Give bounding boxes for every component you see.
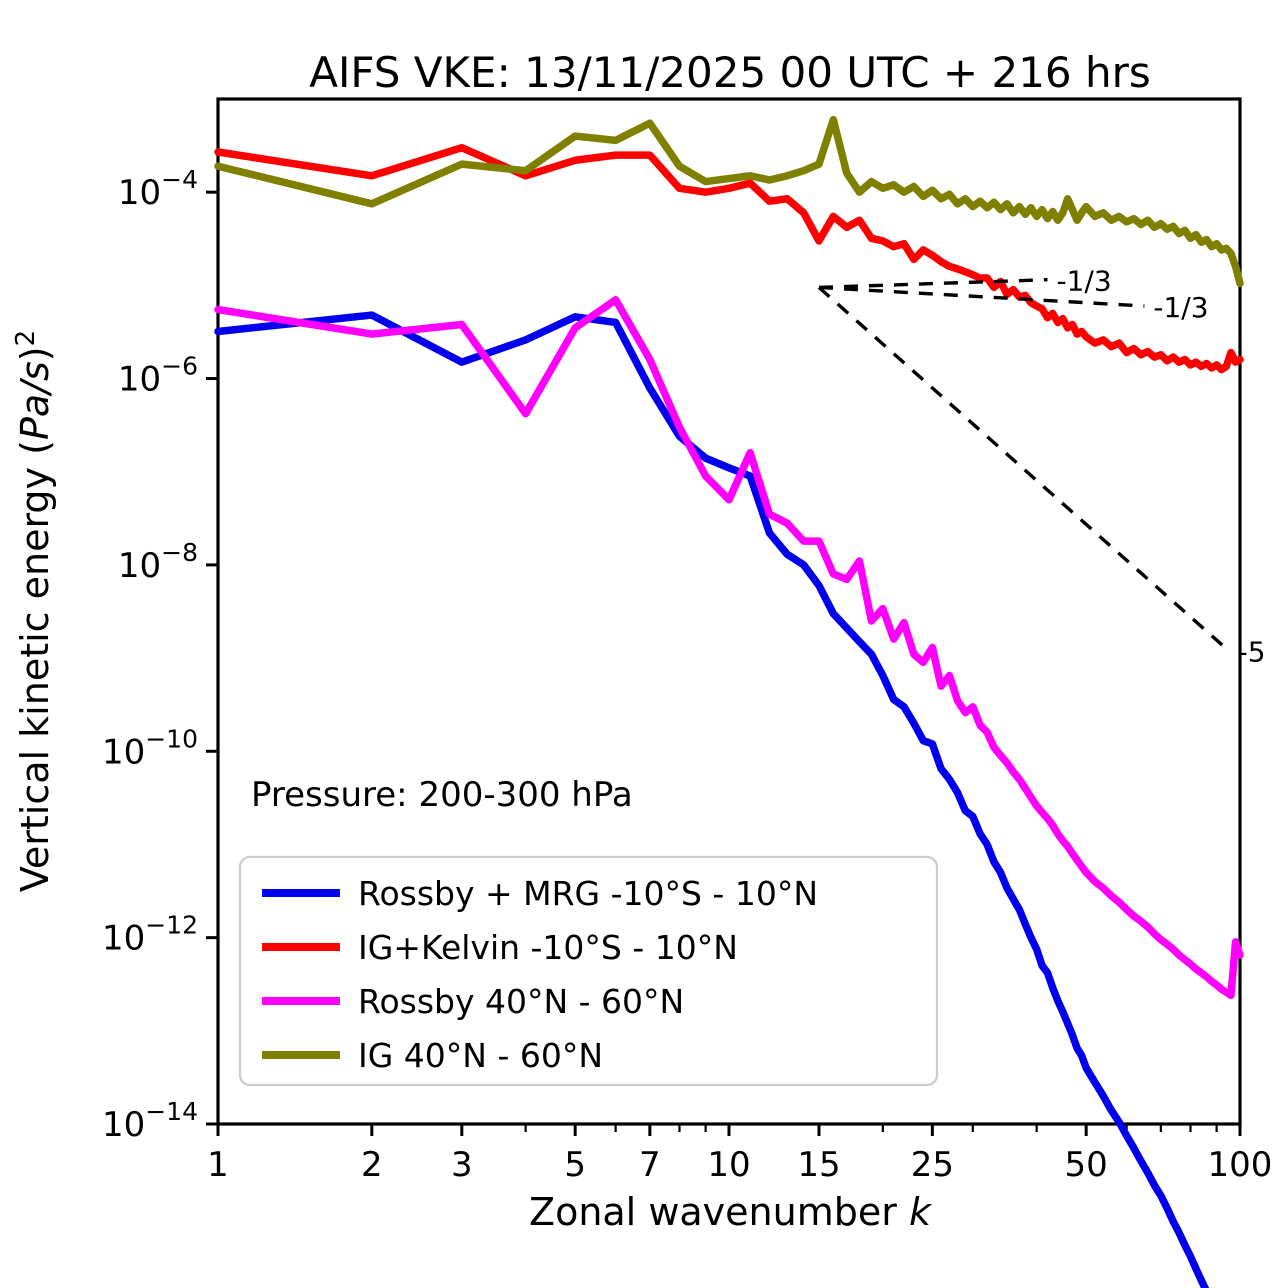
y-tick-label: 10−6 — [118, 352, 198, 400]
chart-title: AIFS VKE: 13/11/2025 00 UTC + 216 hrs — [309, 48, 1151, 97]
x-tick-label: 10 — [707, 1145, 750, 1185]
x-tick-label: 2 — [361, 1145, 383, 1185]
y-axis-label: Vertical kinetic energy (Pa/s)2 — [11, 330, 57, 892]
x-tick-label: 3 — [451, 1145, 473, 1185]
x-tick-label: 5 — [564, 1145, 586, 1185]
x-tick-label: 15 — [797, 1145, 840, 1185]
slope-guide-upper-third-label: -1/3 — [1056, 265, 1111, 298]
y-tick-label: 10−12 — [102, 911, 198, 959]
y-axis-ticks: 10−410−610−810−1010−1210−14 — [102, 165, 218, 1145]
chart-legend: Rossby + MRG -10°S - 10°NIG+Kelvin -10°S… — [240, 857, 937, 1085]
y-axis-label-text: Vertical kinetic energy ( — [13, 440, 57, 892]
chart-svg: AIFS VKE: 13/11/2025 00 UTC + 216 hrs 12… — [0, 0, 1280, 1288]
x-axis-minor-ticks — [218, 1124, 1240, 1132]
x-axis-label: Zonal wavenumber k — [529, 1190, 933, 1234]
x-tick-label: 50 — [1065, 1145, 1108, 1185]
y-tick-label: 10−14 — [102, 1097, 198, 1145]
x-axis-label-symbol: k — [909, 1190, 933, 1234]
legend-label-3: IG 40°N - 60°N — [358, 1036, 603, 1075]
series-line-3 — [218, 120, 1240, 284]
legend-label-1: IG+Kelvin -10°S - 10°N — [358, 928, 738, 967]
x-axis-label-text: Zonal wavenumber — [529, 1190, 909, 1234]
x-tick-label: 7 — [639, 1145, 661, 1185]
pressure-annotation: Pressure: 200-300 hPa — [251, 775, 633, 815]
x-tick-label: 100 — [1208, 1145, 1273, 1185]
legend-label-2: Rossby 40°N - 60°N — [358, 982, 684, 1021]
figure-canvas: AIFS VKE: 13/11/2025 00 UTC + 216 hrs 12… — [0, 0, 1280, 1288]
slope-guide-minus-five-label: -5 — [1238, 636, 1266, 669]
y-tick-label: 10−8 — [118, 538, 198, 586]
x-tick-label: 1 — [207, 1145, 229, 1185]
legend-label-0: Rossby + MRG -10°S - 10°N — [358, 874, 818, 913]
y-axis-label-units: Pa/s — [13, 361, 57, 440]
y-tick-label: 10−10 — [102, 724, 198, 772]
x-tick-label: 25 — [911, 1145, 954, 1185]
y-tick-label: 10−4 — [118, 165, 198, 213]
x-axis-ticks: 1235710152550100 — [207, 1124, 1272, 1185]
slope-guide-minus-five — [819, 287, 1229, 650]
slope-guide-lower-third-label: -1/3 — [1153, 291, 1208, 324]
